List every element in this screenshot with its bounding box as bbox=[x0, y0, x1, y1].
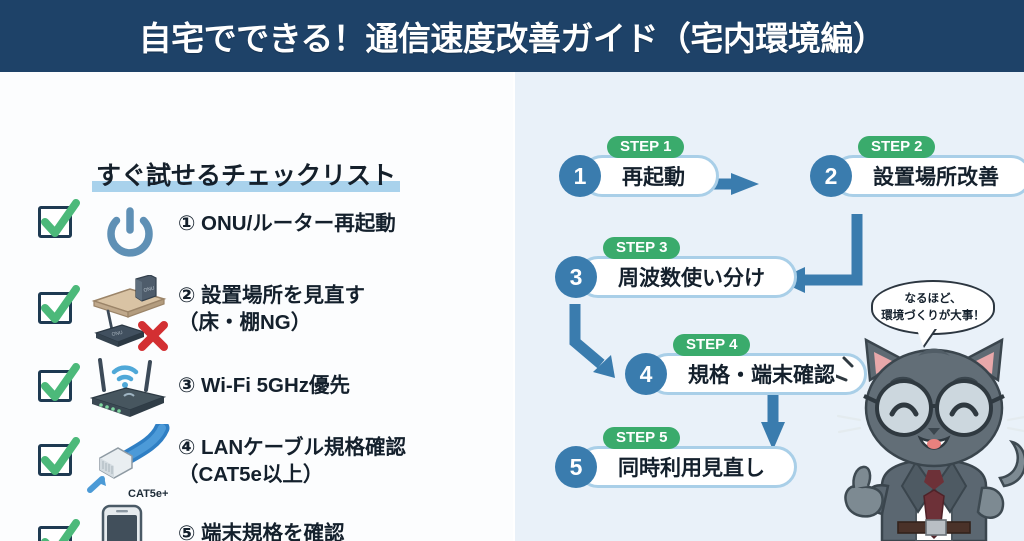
checkbox-3[interactable] bbox=[38, 370, 72, 402]
checkbox-2[interactable] bbox=[38, 292, 72, 324]
sparkle-icon bbox=[836, 358, 852, 380]
arrow-head-step4 bbox=[593, 355, 615, 378]
checklist-label-2: ② 設置場所を見直す （床・棚NG） bbox=[178, 282, 365, 336]
check-mark-icon bbox=[39, 362, 81, 406]
check-mark-icon bbox=[39, 518, 81, 541]
page-title: 自宅でできる！通信速度改善ガイド（宅内環境編） bbox=[139, 12, 886, 60]
step-4-number: 4 bbox=[625, 353, 667, 395]
checklist-panel: すぐ試せるチェックリスト ① ONU/ルーター再起動 bbox=[0, 72, 513, 541]
step-1-label: 再起動 bbox=[622, 161, 685, 191]
checklist-heading: すぐ試せるチェックリスト bbox=[96, 156, 396, 192]
step-4-card[interactable]: 規格・端末確認 bbox=[647, 353, 867, 395]
checkbox-1[interactable] bbox=[38, 206, 72, 238]
check-mark-icon bbox=[39, 436, 81, 480]
router-on-shelf-icon: ONU ONU bbox=[86, 275, 172, 353]
checklist-label-1: ① ONU/ルーター再起動 bbox=[178, 210, 396, 237]
check-mark-icon bbox=[39, 198, 81, 242]
step-3-number: 3 bbox=[555, 256, 597, 298]
header-bar: 自宅でできる！通信速度改善ガイド（宅内環境編） bbox=[0, 0, 1024, 72]
step-5-label: 同時利用見直し bbox=[618, 452, 765, 482]
step-1-card[interactable]: 再起動 bbox=[581, 155, 719, 197]
checkbox-4[interactable] bbox=[38, 444, 72, 476]
step-3-label: 周波数使い分け bbox=[618, 262, 765, 292]
step-2-number: 2 bbox=[810, 155, 852, 197]
step-1-badge: STEP 1 bbox=[607, 136, 684, 158]
power-button-icon bbox=[92, 198, 168, 268]
infographic-page: 自宅でできる！通信速度改善ガイド（宅内環境編） すぐ試せるチェックリスト bbox=[0, 0, 1024, 541]
arrow-step2-to-step3 bbox=[803, 214, 857, 280]
step-2-badge: STEP 2 bbox=[858, 136, 935, 158]
step-5-number: 5 bbox=[555, 446, 597, 488]
step-5-card[interactable]: 同時利用見直し bbox=[577, 446, 797, 488]
mascot-speech-text: なるほど、 環境づくりが大事！ bbox=[881, 291, 985, 324]
checkbox-5[interactable] bbox=[38, 526, 72, 541]
step-3-badge: STEP 3 bbox=[603, 237, 680, 259]
step-4-badge: STEP 4 bbox=[673, 334, 750, 356]
cat-mascot bbox=[836, 336, 1024, 541]
lan-cable-icon bbox=[84, 424, 172, 496]
step-2-label: 設置場所改善 bbox=[873, 161, 999, 191]
smartphone-icon bbox=[92, 504, 152, 541]
step-1-number: 1 bbox=[559, 155, 601, 197]
checklist-label-4: ④ LANケーブル規格確認 （CAT5e以上） bbox=[178, 434, 406, 488]
step-3-card[interactable]: 周波数使い分け bbox=[577, 256, 797, 298]
check-mark-icon bbox=[39, 284, 81, 328]
step-5-badge: STEP 5 bbox=[603, 427, 680, 449]
checklist-label-5: ⑤ 端末規格を確認 （11ac/11ax） bbox=[178, 520, 345, 541]
arrow-step3-to-step4 bbox=[575, 304, 601, 364]
thumbs-up-hand bbox=[845, 467, 882, 516]
checklist-heading-text: すぐ試せるチェックリスト bbox=[96, 156, 396, 192]
wifi-router-icon bbox=[84, 350, 172, 424]
lan-cable-caption: CAT5e+ bbox=[128, 488, 168, 500]
speech-bubble-tail bbox=[916, 327, 936, 346]
checklist-label-3: ③ Wi-Fi 5GHz優先 bbox=[178, 372, 350, 399]
step-2-card[interactable]: 設置場所改善 bbox=[832, 155, 1024, 197]
step-4-label: 規格・端末確認 bbox=[688, 359, 835, 389]
